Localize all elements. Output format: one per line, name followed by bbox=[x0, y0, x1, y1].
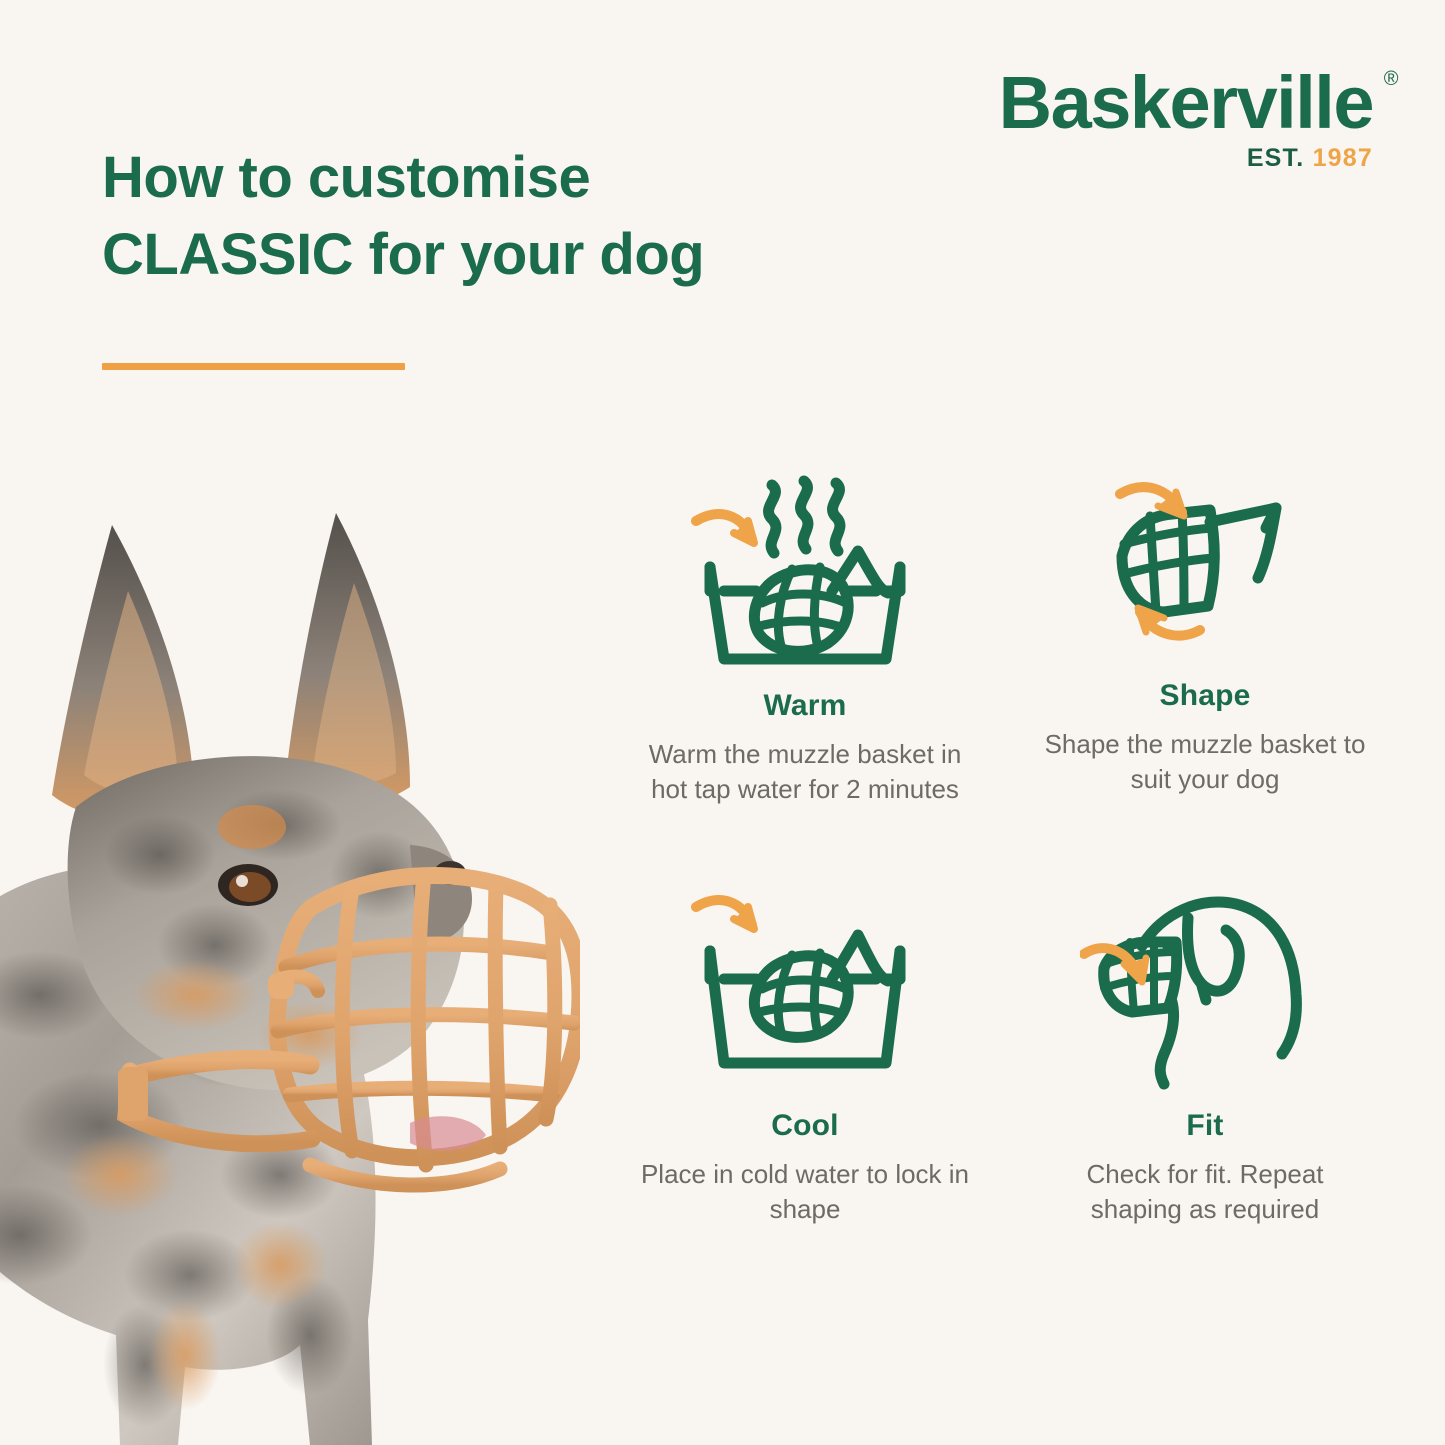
page-title-line-2: CLASSIC for your dog bbox=[102, 222, 704, 287]
step-fit: Fit Check for fit. Repeat shaping as req… bbox=[1010, 875, 1400, 1285]
page-title: How to customise CLASSIC for your dog bbox=[102, 140, 862, 293]
step-shape: Shape Shape the muzzle basket to suit yo… bbox=[1010, 455, 1400, 865]
step-warm: Warm Warm the muzzle basket in hot tap w… bbox=[610, 455, 1000, 865]
page-title-line-1: How to customise bbox=[102, 145, 590, 210]
basin-with-muzzle-icon bbox=[680, 875, 930, 1105]
brand-logo: Baskerville® EST. 1987 bbox=[999, 68, 1373, 173]
est-year: 1987 bbox=[1313, 144, 1373, 172]
dog-photo bbox=[0, 475, 580, 1445]
step-title: Shape bbox=[1159, 679, 1250, 713]
basin-with-muzzle-and-steam-icon bbox=[680, 455, 930, 685]
step-title: Warm bbox=[763, 689, 846, 723]
muzzle-basket-squeeze-arrows-icon bbox=[1090, 455, 1320, 665]
brand-wordmark: Baskerville® bbox=[999, 68, 1373, 138]
infographic-page: Baskerville® EST. 1987 How to customise … bbox=[0, 0, 1445, 1445]
step-cool: Cool Place in cold water to lock in shap… bbox=[610, 875, 1000, 1285]
registered-trademark-icon: ® bbox=[1384, 70, 1397, 89]
step-description: Shape the muzzle basket to suit your dog bbox=[1040, 727, 1370, 796]
dog-head-with-muzzle-icon bbox=[1080, 875, 1330, 1105]
step-description: Place in cold water to lock in shape bbox=[640, 1157, 970, 1226]
accent-rule bbox=[102, 363, 405, 370]
step-description: Warm the muzzle basket in hot tap water … bbox=[640, 737, 970, 806]
step-description: Check for fit. Repeat shaping as require… bbox=[1040, 1157, 1370, 1226]
brand-established: EST. 1987 bbox=[999, 144, 1373, 173]
step-title: Cool bbox=[771, 1109, 838, 1143]
brand-name: Baskerville bbox=[999, 61, 1373, 144]
step-title: Fit bbox=[1186, 1109, 1223, 1143]
est-label: EST. bbox=[1247, 144, 1305, 172]
steps-grid: Warm Warm the muzzle basket in hot tap w… bbox=[610, 455, 1400, 1285]
